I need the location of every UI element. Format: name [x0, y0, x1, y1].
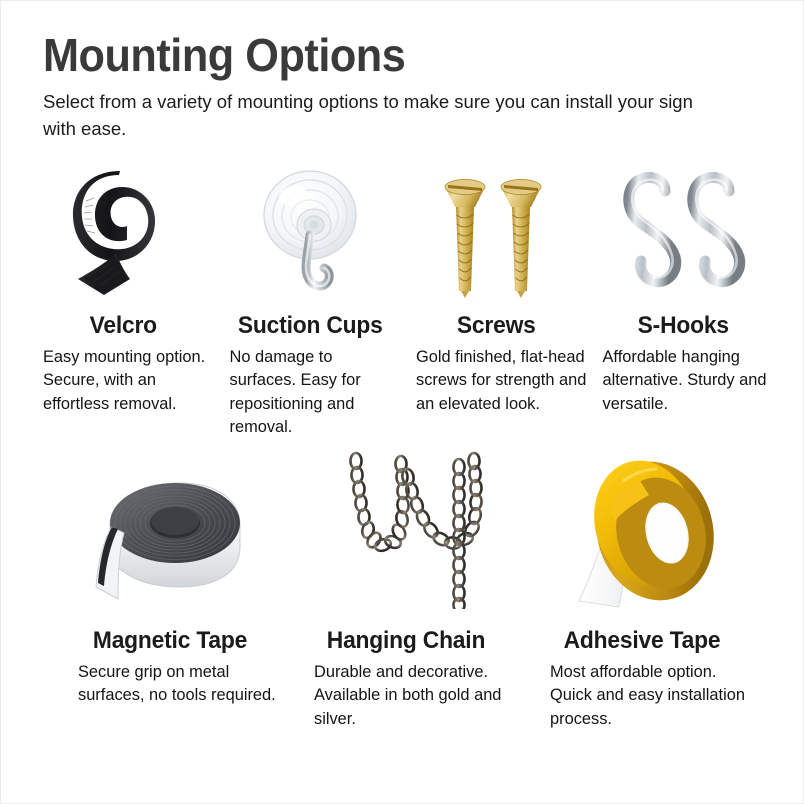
option-desc-velcro: Easy mounting option. Secure, with an ef…: [33, 346, 214, 416]
s-hook-right: [693, 177, 740, 281]
velcro-art-container: [33, 159, 214, 299]
option-desc-adhesive-tape: Most affordable option. Quick and easy i…: [528, 661, 756, 731]
option-card-velcro[interactable]: Velcro Easy mounting option. Secure, wit…: [33, 159, 214, 439]
gold-screws-image: [437, 167, 555, 299]
screw-right: [501, 180, 541, 299]
option-desc-s-hooks: Affordable hanging alternative. Sturdy a…: [593, 346, 774, 416]
mounting-options-infographic: Mounting Options Select from a variety o…: [0, 0, 804, 804]
hanging-chain-art-container: [292, 449, 520, 609]
header: Mounting Options Select from a variety o…: [43, 31, 743, 142]
s-hook-left: [629, 177, 676, 281]
suction-cup-hook-image: [248, 167, 372, 299]
option-title-suction-cups: Suction Cups: [224, 312, 395, 340]
option-title-hanging-chain: Hanging Chain: [298, 627, 515, 655]
option-title-s-hooks: S-Hooks: [597, 312, 768, 340]
magnetic-tape-art-container: [56, 449, 284, 609]
adhesive-tape-roll-image: [557, 451, 727, 609]
option-card-s-hooks[interactable]: S-Hooks Affordable hanging alternative. …: [593, 159, 774, 439]
option-desc-screws: Gold finished, flat-head screws for stre…: [406, 346, 587, 416]
option-desc-suction-cups: No damage to surfaces. Easy for repositi…: [220, 346, 401, 439]
velcro-strap-image: [64, 167, 182, 299]
option-card-magnetic-tape[interactable]: Magnetic Tape Secure grip on metal surfa…: [56, 449, 284, 731]
option-card-suction-cups[interactable]: Suction Cups No damage to surfaces. Easy…: [220, 159, 401, 439]
option-title-screws: Screws: [411, 312, 582, 340]
option-title-velcro: Velcro: [38, 312, 209, 340]
option-desc-magnetic-tape: Secure grip on metal surfaces, no tools …: [56, 661, 284, 708]
magnetic-tape-roll-image: [88, 459, 252, 609]
mounting-options-row-1: Velcro Easy mounting option. Secure, wit…: [33, 159, 773, 439]
hanging-chain-image: [326, 447, 486, 609]
option-card-screws[interactable]: Screws Gold finished, flat-head screws f…: [406, 159, 587, 439]
screw-left: [445, 180, 485, 299]
option-card-adhesive-tape[interactable]: Adhesive Tape Most affordable option. Qu…: [528, 449, 756, 731]
option-title-adhesive-tape: Adhesive Tape: [534, 627, 751, 655]
page-title: Mounting Options: [43, 31, 701, 79]
screws-art-container: [406, 159, 587, 299]
hanging-chain-art-card[interactable]: Hanging Chain Durable and decorative. Av…: [292, 449, 520, 731]
page-subtitle: Select from a variety of mounting option…: [43, 89, 715, 142]
adhesive-tape-art-container: [528, 449, 756, 609]
option-title-magnetic-tape: Magnetic Tape: [62, 627, 279, 655]
option-desc-hanging-chain: Durable and decorative. Available in bot…: [292, 661, 520, 731]
mounting-options-row-2: Magnetic Tape Secure grip on metal surfa…: [56, 449, 756, 731]
s-hooks-image: [619, 169, 747, 299]
suction-cup-art-container: [220, 159, 401, 299]
s-hooks-art-container: [593, 159, 774, 299]
